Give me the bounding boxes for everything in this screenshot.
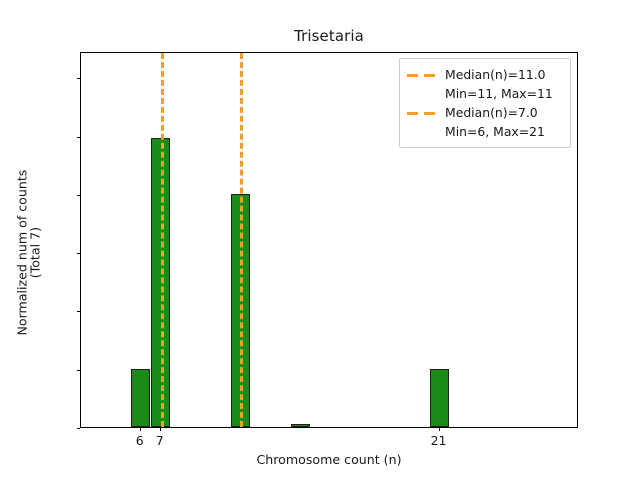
legend-row: Min=11, Max=11 bbox=[406, 84, 563, 103]
legend-row: Median(n)=7.0 bbox=[406, 103, 563, 122]
bar-14 bbox=[291, 424, 310, 427]
legend-swatch-spacer bbox=[406, 87, 438, 101]
legend-row: Min=6, Max=21 bbox=[406, 122, 563, 141]
y-tick-mark bbox=[77, 78, 81, 79]
chart-title: Trisetaria bbox=[80, 27, 578, 45]
legend-swatch-spacer bbox=[406, 125, 438, 139]
x-tick-mark bbox=[160, 428, 161, 432]
legend-label: Min=6, Max=21 bbox=[445, 124, 545, 139]
x-tick-mark bbox=[140, 428, 141, 432]
legend-row: Median(n)=11.0 bbox=[406, 65, 563, 84]
y-tick-mark bbox=[77, 370, 81, 371]
y-tick-mark bbox=[77, 428, 81, 429]
legend-box: Median(n)=11.0Min=11, Max=11Median(n)=7.… bbox=[399, 58, 571, 148]
x-tick-label: 7 bbox=[140, 433, 180, 448]
x-tick-mark bbox=[439, 428, 440, 432]
bar-21 bbox=[430, 369, 449, 427]
bar-6 bbox=[131, 369, 150, 427]
y-axis-label: Normalized num of counts (Total 7) bbox=[16, 93, 41, 413]
y-tick-mark bbox=[77, 253, 81, 254]
y-tick-mark bbox=[77, 137, 81, 138]
legend-label: Median(n)=11.0 bbox=[445, 67, 546, 82]
x-axis-label: Chromosome count (n) bbox=[80, 452, 578, 467]
legend-label: Min=11, Max=11 bbox=[445, 86, 553, 101]
median-line-11 bbox=[240, 53, 243, 427]
y-axis-label-line2: (Total 7) bbox=[29, 93, 42, 413]
median-line-7 bbox=[161, 53, 164, 427]
legend-dashed-line-icon bbox=[406, 106, 438, 120]
legend-dashed-line-icon bbox=[406, 68, 438, 82]
figure-canvas: Trisetaria Normalized num of counts (Tot… bbox=[0, 0, 640, 480]
y-tick-mark bbox=[77, 311, 81, 312]
y-tick-mark bbox=[77, 195, 81, 196]
x-tick-label: 21 bbox=[419, 433, 459, 448]
legend-label: Median(n)=7.0 bbox=[445, 105, 538, 120]
